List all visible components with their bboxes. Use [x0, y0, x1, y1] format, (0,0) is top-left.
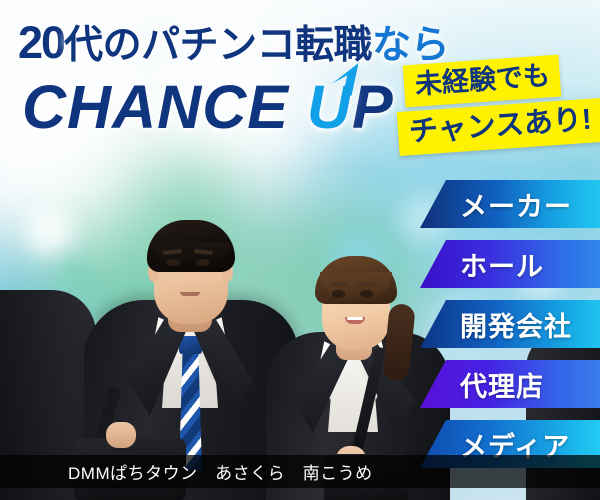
logo-u-glyph: U [307, 73, 352, 141]
chance-up-logo: CHANCE UP [22, 72, 394, 142]
category-list: メーカー ホール 開発会社 代理店 メディア [420, 180, 600, 480]
caption-bar: DMMぱちタウン あさくら 南こうめ [0, 455, 600, 488]
logo-text-chance: CHANCE [22, 73, 307, 141]
category-item-maker[interactable]: メーカー [420, 180, 600, 228]
woman-eye-right [360, 290, 373, 298]
man-eye-right [196, 259, 210, 266]
headline-main: 代のパチンコ転職 [64, 24, 372, 67]
caption-text: DMMぱちタウン あさくら 南こうめ [0, 459, 373, 484]
category-item-agency[interactable]: 代理店 [420, 360, 600, 408]
man-hand [106, 422, 136, 448]
headline-accent: なら [372, 24, 449, 67]
logo-letter-u: U [307, 72, 352, 142]
category-item-development-company[interactable]: 開発会社 [420, 300, 600, 348]
man-eye-left [166, 259, 180, 266]
woman-eye-left [332, 290, 345, 298]
advertisement-banner[interactable]: 20代のパチンコ転職なら CHANCE UP 未経験でも チャンスあり! メーカ… [0, 0, 600, 500]
category-item-hall[interactable]: ホール [420, 240, 600, 288]
category-label: ホール [460, 245, 544, 284]
logo-text-p: P [352, 73, 394, 141]
category-label: 開発会社 [460, 305, 572, 344]
man-mouth [180, 292, 200, 296]
bokeh-light [26, 208, 72, 254]
headline-number: 20 [18, 17, 64, 68]
headline: 20代のパチンコ転職なら [18, 14, 449, 70]
man-hair [147, 220, 235, 272]
category-label: メーカー [460, 185, 572, 224]
category-label: 代理店 [460, 365, 544, 404]
